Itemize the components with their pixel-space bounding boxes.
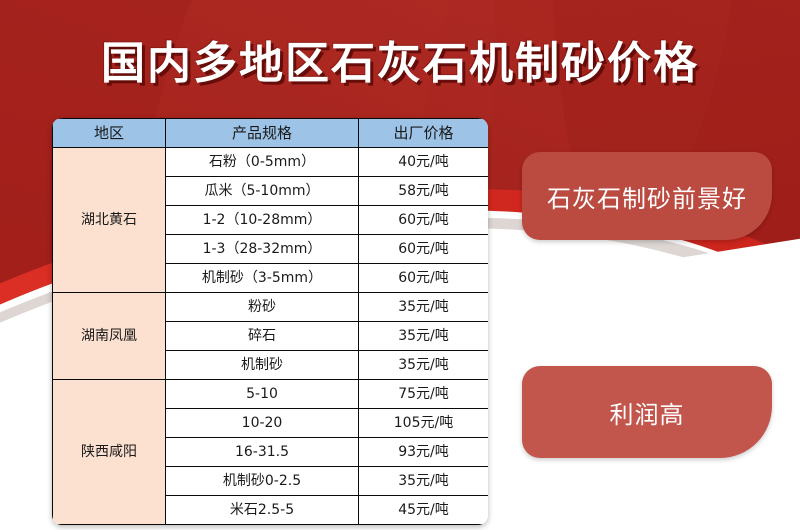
price-cell: 58元/吨 [359,177,489,206]
table-header-row: 地区 产品规格 出厂价格 [53,119,489,148]
price-cell: 35元/吨 [359,293,489,322]
region-cell: 湖北黄石 [53,148,166,293]
price-cell: 35元/吨 [359,351,489,380]
price-cell: 35元/吨 [359,467,489,496]
page-title: 国内多地区石灰石机制砂价格 [0,36,800,92]
region-cell: 陕西咸阳 [53,380,166,525]
price-cell: 45元/吨 [359,496,489,525]
highlight-badge-profit: 利润高 [522,366,772,458]
spec-cell: 16-31.5 [166,438,359,467]
spec-cell: 机制砂 [166,351,359,380]
poster-root: 国内多地区石灰石机制砂价格 地区 产品规格 出厂价格 湖北黄石 石粉（0-5mm… [0,0,800,530]
spec-cell: 1-3（28-32mm） [166,235,359,264]
table-row: 陕西咸阳 5-10 75元/吨 [53,380,489,409]
price-cell: 105元/吨 [359,409,489,438]
spec-cell: 碎石 [166,322,359,351]
spec-cell: 10-20 [166,409,359,438]
table-body: 湖北黄石 石粉（0-5mm） 40元/吨 瓜米（5-10mm） 58元/吨 1-… [53,148,489,525]
column-header-region: 地区 [53,119,166,148]
spec-cell: 米石2.5-5 [166,496,359,525]
spec-cell: 石粉（0-5mm） [166,148,359,177]
table-row: 湖北黄石 石粉（0-5mm） 40元/吨 [53,148,489,177]
price-cell: 40元/吨 [359,148,489,177]
column-header-price: 出厂价格 [359,119,489,148]
highlight-badge-prospect: 石灰石制砂前景好 [522,152,772,240]
region-cell: 湖南凤凰 [53,293,166,380]
price-cell: 75元/吨 [359,380,489,409]
price-table: 地区 产品规格 出厂价格 湖北黄石 石粉（0-5mm） 40元/吨 瓜米（5-1… [52,118,488,525]
column-header-spec: 产品规格 [166,119,359,148]
price-table-container: 地区 产品规格 出厂价格 湖北黄石 石粉（0-5mm） 40元/吨 瓜米（5-1… [52,118,488,525]
spec-cell: 粉砂 [166,293,359,322]
price-cell: 35元/吨 [359,322,489,351]
spec-cell: 机制砂（3-5mm） [166,264,359,293]
price-cell: 60元/吨 [359,206,489,235]
spec-cell: 1-2（10-28mm） [166,206,359,235]
price-cell: 93元/吨 [359,438,489,467]
price-cell: 60元/吨 [359,235,489,264]
spec-cell: 机制砂0-2.5 [166,467,359,496]
price-cell: 60元/吨 [359,264,489,293]
spec-cell: 瓜米（5-10mm） [166,177,359,206]
table-row: 湖南凤凰 粉砂 35元/吨 [53,293,489,322]
spec-cell: 5-10 [166,380,359,409]
